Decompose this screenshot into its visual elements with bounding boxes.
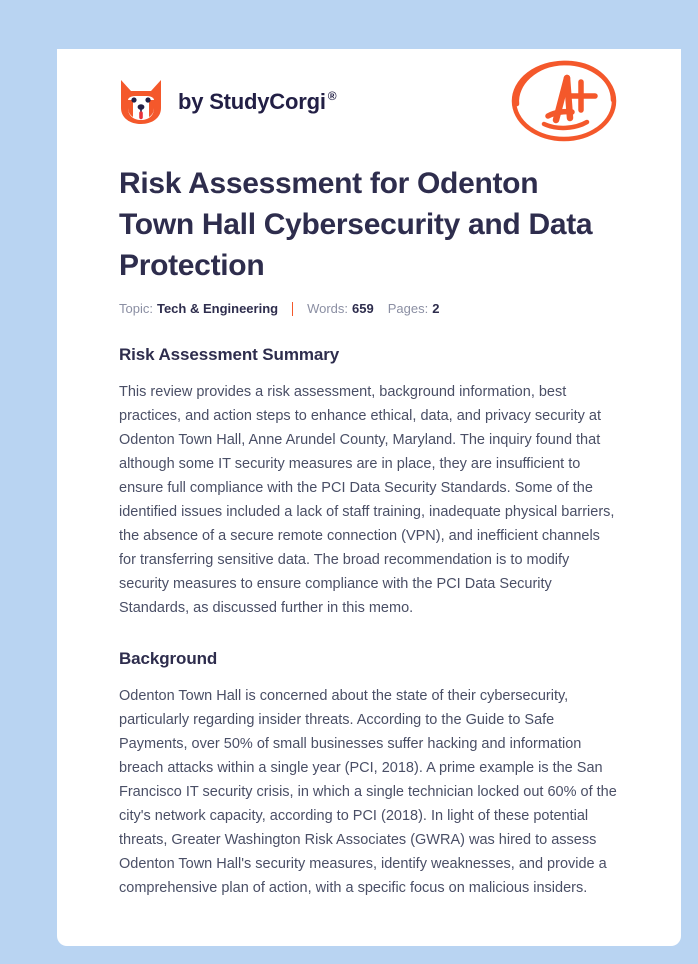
section-heading-risk-assessment-summary: Risk Assessment Summary bbox=[119, 316, 619, 365]
meta-topic-label: Topic: bbox=[119, 301, 153, 316]
meta-separator bbox=[292, 302, 293, 316]
meta-words-value: 659 bbox=[352, 301, 374, 316]
corgi-face-icon bbox=[119, 78, 163, 126]
section-body-background: Odenton Town Hall is concerned about the… bbox=[119, 669, 619, 900]
meta-words-label: Words: bbox=[307, 301, 348, 316]
meta-topic-value[interactable]: Tech & Engineering bbox=[157, 301, 278, 316]
meta-words: Words: 659 bbox=[307, 301, 374, 316]
document-page: by StudyCorgi® Risk Assessment for Odent… bbox=[57, 49, 681, 946]
studycorgi-brand[interactable]: by StudyCorgi® bbox=[119, 78, 336, 126]
meta-pages: Pages: 2 bbox=[388, 301, 440, 316]
section-body-risk-assessment-summary: This review provides a risk assessment, … bbox=[119, 365, 619, 620]
meta-pages-value: 2 bbox=[432, 301, 439, 316]
page-header: by StudyCorgi® bbox=[119, 49, 619, 154]
brand-name: StudyCorgi bbox=[209, 89, 326, 114]
brand-prefix: by bbox=[178, 89, 209, 114]
brand-wordmark: by StudyCorgi® bbox=[178, 89, 336, 115]
meta-topic: Topic: Tech & Engineering bbox=[119, 301, 278, 316]
section-heading-background: Background bbox=[119, 620, 619, 669]
document-meta: Topic: Tech & Engineering Words: 659 Pag… bbox=[119, 301, 619, 316]
page-title: Risk Assessment for Odenton Town Hall Cy… bbox=[119, 154, 619, 286]
a-plus-grade-badge-icon bbox=[509, 56, 619, 148]
meta-pages-label: Pages: bbox=[388, 301, 428, 316]
registered-trademark-icon: ® bbox=[328, 89, 337, 103]
